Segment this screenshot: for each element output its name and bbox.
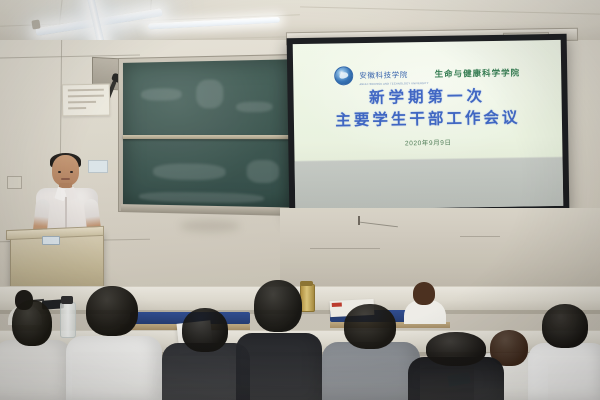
classroom-photo: 安徽科技学院 ANHUI SCIENCE AND TECHNOLOGY UNIV… bbox=[0, 0, 600, 400]
student-head bbox=[254, 280, 302, 332]
hook-icon bbox=[358, 216, 360, 225]
outlet-icon bbox=[7, 176, 22, 189]
student-8 bbox=[408, 330, 504, 400]
student-torso bbox=[236, 333, 322, 400]
presenter-mouth bbox=[61, 178, 70, 180]
blackboard bbox=[118, 54, 304, 216]
slide-header: 安徽科技学院 ANHUI SCIENCE AND TECHNOLOGY UNIV… bbox=[293, 61, 561, 86]
student-2 bbox=[66, 296, 162, 400]
student-5 bbox=[322, 306, 420, 400]
student-torso bbox=[66, 336, 162, 400]
thermos-cap bbox=[300, 281, 313, 286]
screen-unlit-band bbox=[295, 158, 564, 210]
department-name: 生命与健康科学学院 bbox=[434, 67, 520, 80]
student-torso bbox=[528, 343, 600, 400]
lectern-item bbox=[42, 236, 60, 245]
student-4 bbox=[236, 292, 322, 400]
blackboard-surface bbox=[123, 59, 299, 209]
student-head bbox=[542, 304, 588, 348]
student-head bbox=[426, 332, 486, 366]
wall-smudge bbox=[180, 220, 240, 232]
blackboard-slide-rail bbox=[123, 135, 299, 139]
institution-block: 安徽科技学院 ANHUI SCIENCE AND TECHNOLOGY UNIV… bbox=[359, 64, 429, 86]
projected-slide: 安徽科技学院 ANHUI SCIENCE AND TECHNOLOGY UNIV… bbox=[293, 40, 564, 210]
institution-name: 安徽科技学院 bbox=[359, 70, 408, 80]
presenter-head bbox=[52, 155, 79, 186]
student-torso bbox=[0, 340, 72, 400]
student-1 bbox=[0, 304, 72, 400]
light-end-cap bbox=[31, 19, 40, 29]
student-torso bbox=[322, 342, 420, 400]
student-head bbox=[413, 282, 435, 305]
projection-screen: 安徽科技学院 ANHUI SCIENCE AND TECHNOLOGY UNIV… bbox=[287, 34, 570, 216]
presenter-eye bbox=[70, 171, 73, 173]
student-head bbox=[86, 286, 138, 336]
student-head bbox=[344, 304, 396, 349]
student-head bbox=[12, 300, 52, 346]
student-head bbox=[182, 308, 228, 352]
paper-notice-icon bbox=[62, 84, 111, 117]
university-emblem-icon bbox=[334, 66, 353, 85]
ceiling-seam bbox=[300, 6, 600, 14]
student-7 bbox=[528, 308, 600, 400]
presenter-eye bbox=[58, 171, 61, 173]
slide-title: 新学期第一次 主要学生干部工作会议 bbox=[293, 85, 562, 134]
slide-title-line-2: 主要学生干部工作会议 bbox=[294, 107, 562, 134]
